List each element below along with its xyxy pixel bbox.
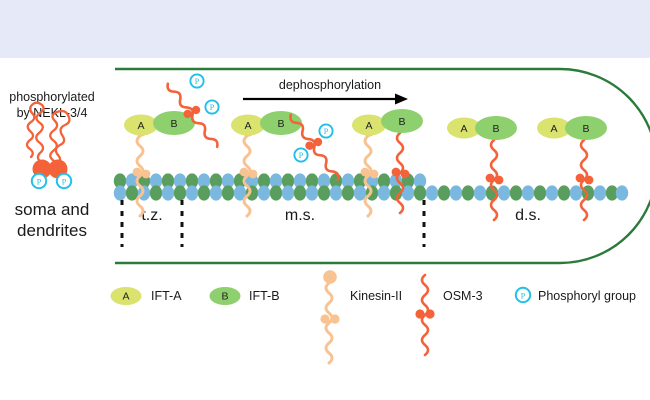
kinesin-head-left-2 [240, 168, 249, 177]
background-band-rect [0, 0, 650, 58]
ift-train-3: A B [352, 109, 423, 216]
ift-a-letter-4: A [460, 123, 467, 135]
phosphoryl-letter-soma-b: P [62, 177, 67, 186]
phosphoryl-letter-1b: P [210, 103, 215, 112]
phosphoryl-group-1b: P [205, 100, 218, 113]
zone-label-ds: d.s. [515, 207, 541, 224]
legend-label-osm-3: OSM-3 [443, 289, 483, 303]
legend-icon-b-letter: B [221, 291, 228, 303]
osm3-head-left-4 [486, 174, 495, 183]
dephosphorylation-annotation: dephosphorylation [243, 78, 408, 105]
phosphorylation-caption-line1: phosphorylated [9, 90, 95, 104]
osm3-head-right-5 [585, 176, 594, 185]
kinesin-head-right-3 [370, 170, 379, 179]
zone-label-ms: m.s. [285, 207, 315, 224]
dephosphorylation-label: dephosphorylation [279, 78, 381, 92]
osm3-head-left-3 [392, 168, 401, 177]
kinesin-head-left-3 [361, 168, 370, 177]
legend-icon-a-letter: A [122, 291, 129, 303]
legend-icon-p-letter: P [521, 291, 526, 300]
osm3-head-right-4 [495, 176, 504, 185]
legend-icon-kinesin [320, 270, 339, 363]
legend-icon-osm3 [415, 275, 434, 355]
kinesin-head-left-1 [133, 168, 142, 177]
phosphoryl-group-2b: P [294, 148, 307, 161]
ift-b-letter-1: B [170, 118, 177, 130]
kinesin-ii-motor-1 [133, 123, 151, 216]
ift-b-letter-5: B [582, 123, 589, 135]
microtubule-double-row [114, 173, 426, 200]
ift-b-letter-2: B [277, 118, 284, 130]
legend-label-ift-b: IFT-B [249, 289, 280, 303]
ift-a-letter-1: A [137, 120, 144, 132]
microtubule-single-row [426, 185, 628, 200]
phosphoryl-letter-2a: P [324, 127, 329, 136]
legend-item-ift-b[interactable]: B IFT-B [210, 287, 280, 305]
phosphoryl-letter-soma-a: P [37, 177, 42, 186]
legend-item-ift-a[interactable]: A IFT-A [111, 287, 183, 305]
legend-label-phosphoryl: Phosphoryl group [538, 289, 636, 303]
dephosphorylation-arrow-head [395, 94, 408, 105]
ift-b-letter-4: B [492, 123, 499, 135]
kinesin-ii-motor-3 [361, 123, 379, 216]
osm3-motor-attached-3 [392, 133, 410, 213]
legend-item-kinesin-ii[interactable]: Kinesin-II [320, 270, 402, 363]
left-panel: phosphorylated by NEKL-3/4 P P so [9, 90, 95, 240]
phosphoryl-group-2a: P [319, 124, 332, 137]
legend-label-ift-a: IFT-A [151, 289, 182, 303]
soma-label-line1: soma and [15, 200, 90, 219]
phosphoryl-group-1a: P [190, 74, 203, 87]
kinesin-head-right-2 [249, 170, 258, 179]
mt-row-upper [114, 173, 426, 188]
ift-a-letter-5: A [550, 123, 557, 135]
ift-train-5: A B [537, 116, 607, 220]
osm3-motor-attached-4 [486, 140, 504, 220]
ift-a-letter-2: A [244, 120, 251, 132]
mt-row-lower [114, 185, 426, 200]
kinesin-ii-motor-2 [240, 123, 258, 216]
legend: A IFT-A B IFT-B Kinesin-II [111, 270, 637, 363]
ift-train-4: A B [447, 116, 517, 220]
cilium-diagram: t.z. m.s. d.s. dephosphorylation A B [0, 0, 650, 400]
ift-b-letter-3: B [398, 116, 405, 128]
zone-label-tz: t.z. [141, 207, 162, 224]
phosphoryl-group-soma-b: P [57, 174, 71, 188]
phosphoryl-letter-2b: P [299, 151, 304, 160]
soma-label-line2: dendrites [17, 221, 87, 240]
ift-a-letter-3: A [365, 120, 372, 132]
phosphoryl-group-soma-a: P [32, 174, 46, 188]
osm3-head-right-3 [401, 170, 410, 179]
phosphoryl-letter-1a: P [195, 77, 200, 86]
legend-label-kinesin-ii: Kinesin-II [350, 289, 402, 303]
zone-dividers [122, 200, 424, 247]
kinesin-head-right-1 [142, 170, 151, 179]
osm3-motor-attached-5 [576, 140, 594, 220]
figure-root: t.z. m.s. d.s. dephosphorylation A B [0, 0, 650, 400]
osm3-head-left-5 [576, 174, 585, 183]
legend-item-phosphoryl[interactable]: P Phosphoryl group [516, 288, 636, 303]
legend-item-osm-3[interactable]: OSM-3 [415, 275, 482, 355]
